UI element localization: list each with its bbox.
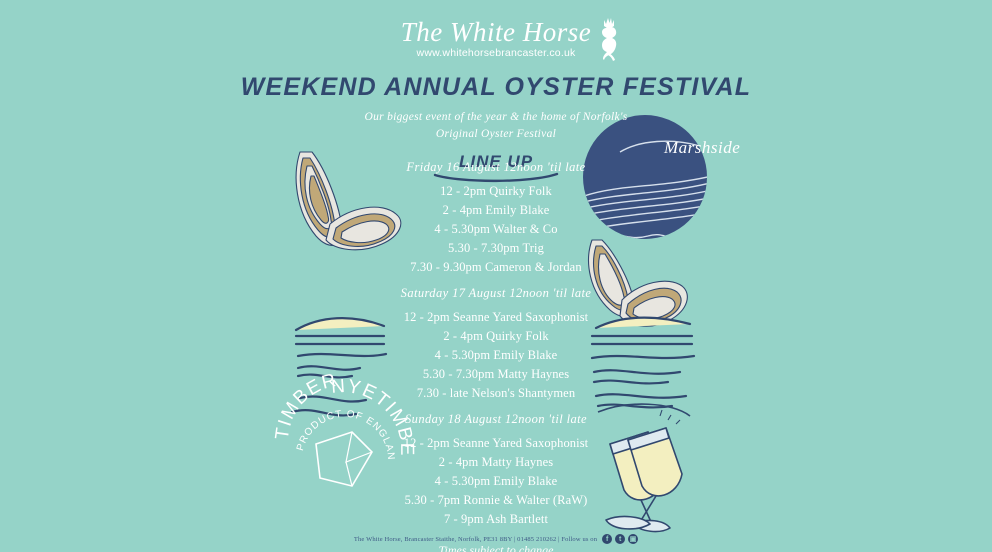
day-heading: Sunday 18 August 12noon 'til late <box>0 412 992 427</box>
day-block-saturday: Saturday 17 August 12noon 'til late 12 -… <box>0 286 992 403</box>
slot-item: 2 - 4pm Quirky Folk <box>0 327 992 346</box>
slot-item: 2 - 4pm Emily Blake <box>0 201 992 220</box>
day-heading: Friday 16 August 12noon 'til late <box>0 160 992 175</box>
tagline-line-1: Our biggest event of the year & the home… <box>0 109 992 126</box>
brand-url[interactable]: www.whitehorsebrancaster.co.uk <box>401 48 591 59</box>
slot-item: 4 - 5.30pm Emily Blake <box>0 346 992 365</box>
facebook-icon[interactable]: f <box>602 534 612 544</box>
slot-item: 12 - 2pm Seanne Yared Saxophonist <box>0 434 992 453</box>
footer-contact-details: The White Horse, Brancaster Staithe, Nor… <box>354 536 597 543</box>
twitter-icon[interactable]: t <box>615 534 625 544</box>
slot-item: 12 - 2pm Seanne Yared Saxophonist <box>0 308 992 327</box>
poster-header: The White Horse www.whitehorsebrancaster… <box>0 18 992 172</box>
poster: Marshside <box>0 0 992 552</box>
day-block-friday: Friday 16 August 12noon 'til late 12 - 2… <box>0 160 992 277</box>
white-horse-emblem-icon <box>597 16 623 62</box>
instagram-icon[interactable]: ▣ <box>628 534 638 544</box>
slot-item: 5.30 - 7pm Ronnie & Walter (RaW) <box>0 491 992 510</box>
slot-item: 2 - 4pm Matty Haynes <box>0 453 992 472</box>
slot-item: 5.30 - 7.30pm Matty Haynes <box>0 365 992 384</box>
lineup-content: Friday 16 August 12noon 'til late 12 - 2… <box>0 160 992 552</box>
slot-item: 7 - 9pm Ash Bartlett <box>0 510 992 529</box>
brand-name: The White Horse www.whitehorsebrancaster… <box>401 18 591 59</box>
slot-item: 4 - 5.30pm Emily Blake <box>0 472 992 491</box>
festival-title: WEEKEND ANNUAL OYSTER FESTIVAL <box>0 73 992 102</box>
day-heading: Saturday 17 August 12noon 'til late <box>0 286 992 301</box>
social-links: f t ▣ <box>602 534 638 544</box>
day-block-sunday: Sunday 18 August 12noon 'til late 12 - 2… <box>0 412 992 529</box>
festival-tagline: Our biggest event of the year & the home… <box>0 109 992 142</box>
tagline-line-2: Original Oyster Festival <box>0 126 992 143</box>
slot-item: 7.30 - 9.30pm Cameron & Jordan <box>0 258 992 277</box>
slot-item: 5.30 - 7.30pm Trig <box>0 239 992 258</box>
slot-item: 7.30 - late Nelson's Shantymen <box>0 384 992 403</box>
poster-footer: The White Horse, Brancaster Staithe, Nor… <box>0 534 992 544</box>
slot-item: 12 - 2pm Quirky Folk <box>0 182 992 201</box>
slot-item: 4 - 5.30pm Walter & Co <box>0 220 992 239</box>
brand-text: The White Horse <box>401 17 591 47</box>
